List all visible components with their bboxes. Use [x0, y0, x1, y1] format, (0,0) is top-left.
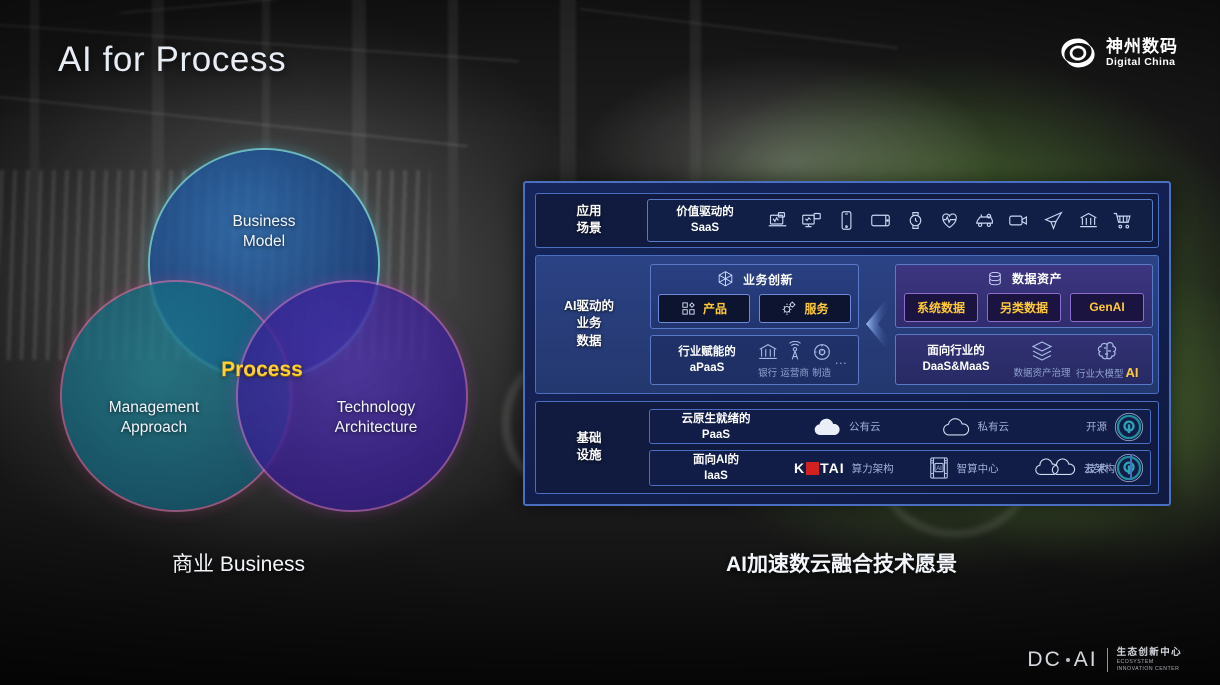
paas-item-private-cloud-label: 私有云	[978, 419, 1010, 434]
panel-row-infrastructure: 基础 设施 云原生就绪的 PaaS 公有	[535, 401, 1159, 494]
chip-genai-label: GenAI	[1089, 300, 1124, 314]
multi-cloud-icon	[1033, 457, 1077, 479]
airplane-icon	[1043, 210, 1064, 231]
gears-icon	[781, 300, 797, 316]
footer-divider	[1107, 648, 1108, 672]
tablet-icon	[870, 210, 891, 231]
iaas-tag-line1: 面向AI的	[693, 454, 739, 466]
factory-gear-icon	[811, 341, 833, 363]
chip-service-label: 服务	[804, 300, 828, 317]
row-label-line1: 基础	[576, 431, 601, 445]
chip-alternative-data[interactable]: 另类数据	[987, 293, 1061, 322]
brand-logo-text: 神州数码 Digital China	[1106, 38, 1178, 69]
chip-product-label: 产品	[703, 300, 727, 317]
data-asset-title: 数据资产	[1012, 270, 1062, 287]
kutai-logo: KTAI	[794, 460, 845, 476]
daas-maas-tag: 面向行业的 DaaS&MaaS	[904, 343, 1008, 375]
paas-badge: 开源	[1086, 412, 1144, 442]
brand-logo: 神州数码 Digital China	[1059, 36, 1178, 70]
openatom-circle-icon	[1114, 453, 1144, 483]
caption-ai-vision: AI加速数云融合技术愿景	[726, 548, 957, 578]
iaas-item-kutai-label: 算力架构	[852, 461, 894, 476]
svg-text:AI: AI	[936, 466, 942, 472]
paas-item-private-cloud: 私有云	[941, 417, 1010, 437]
paas-item-public-cloud-label: 公有云	[849, 419, 881, 434]
data-asset-column: 数据资产 系统数据 另类数据 GenAI	[890, 259, 1158, 390]
slide-canvas: AI for Process 神州数码 Digital China Busine…	[0, 0, 1220, 685]
business-innovation-column: 业务创新 产品	[645, 259, 864, 390]
smartphone-icon	[836, 210, 857, 231]
saas-subbox: 价值驱动的 SaaS	[647, 199, 1153, 242]
desktop-monitor-icon	[801, 210, 822, 231]
footer-text: 生态创新中心 ECOSYSTEM INNOVATION CENTER	[1117, 648, 1182, 673]
digital-china-swirl-icon	[1059, 36, 1097, 70]
brand-name-cn: 神州数码	[1106, 38, 1178, 56]
ai-columns: 业务创新 产品	[645, 259, 1158, 390]
apaas-cell: 行业赋能的 aPaaS 银行 运营商	[650, 335, 859, 385]
apaas-tag-line1: 行业赋能的	[678, 346, 736, 358]
data-asset-cell: 数据资产 系统数据 另类数据 GenAI	[895, 264, 1153, 328]
chip-genai[interactable]: GenAI	[1070, 293, 1144, 322]
car-icon	[974, 210, 995, 231]
kutai-post: TAI	[820, 460, 845, 476]
apaas-tag: 行业赋能的 aPaaS	[659, 344, 755, 376]
data-asset-header: 数据资产	[986, 270, 1062, 288]
footer-en2: INNOVATION CENTER	[1117, 667, 1182, 673]
iaas-item-kutai: KTAI 算力架构	[794, 460, 894, 476]
daas-item-data-governance: 数据资产治理	[1013, 339, 1070, 379]
paas-tag-line1: 云原生就绪的	[682, 413, 751, 425]
row-label-line1: AI驱动的	[564, 299, 614, 313]
footer-ai: AI	[1074, 648, 1098, 672]
industry-item-bank: 银行	[757, 341, 779, 379]
row-label-ai-driven-business-data: AI驱动的 业务 数据	[536, 256, 642, 393]
saas-tag: 价值驱动的 SaaS	[662, 204, 748, 236]
cloud-filled-icon	[812, 417, 842, 437]
business-innovation-chips: 产品 服务	[658, 294, 851, 323]
page-title: AI for Process	[58, 40, 286, 80]
industry-item-operator: 运营商	[780, 341, 809, 379]
row-label-line2: 场景	[576, 221, 601, 235]
panel-row-ai-driven-business-data: AI驱动的 业务 数据	[535, 255, 1159, 394]
iaas-tag: 面向AI的 IaaS	[660, 452, 772, 484]
openatom-circle-icon	[1114, 412, 1144, 442]
business-innovation-title: 业务创新	[743, 271, 793, 288]
iaas-badge: 技术	[1086, 453, 1144, 483]
row-body-application-scenarios: 价值驱动的 SaaS	[642, 194, 1158, 247]
blocks-icon	[681, 301, 696, 316]
infra-row-paas: 云原生就绪的 PaaS 公有云 私有云	[649, 409, 1151, 445]
footer-dc-ai: DC AI	[1027, 648, 1097, 672]
brand-name-en: Digital China	[1106, 57, 1178, 68]
venn-diagram: Business Model Management Approach Techn…	[62, 150, 462, 510]
row-label-infrastructure: 基础 设施	[536, 402, 642, 493]
laptop-icon	[767, 210, 788, 231]
cube-network-icon	[716, 270, 735, 289]
iaas-item-ai-computing-center-label: 智算中心	[957, 461, 999, 476]
footer-dot	[1066, 658, 1070, 662]
kutai-pre: K	[794, 460, 805, 476]
database-icon	[986, 270, 1004, 288]
brain-chip-icon	[1095, 339, 1119, 363]
row-label-line3: 数据	[576, 334, 601, 348]
business-innovation-cell: 业务创新 产品	[650, 264, 859, 329]
industry-item-operator-label: 运营商	[780, 365, 809, 379]
footer-cn: 生态创新中心	[1117, 648, 1182, 659]
caption-business: 商业 Business	[172, 548, 305, 578]
iaas-badge-label: 技术	[1086, 461, 1107, 476]
iaas-item-ai-computing-center: AI 智算中心	[928, 455, 999, 481]
paas-items: 公有云 私有云	[772, 417, 1140, 437]
kutai-block	[806, 462, 819, 475]
row-label-line2: 设施	[576, 448, 601, 462]
iaas-tag-line2: IaaS	[704, 470, 728, 482]
column-separator	[864, 259, 890, 390]
paas-tag: 云原生就绪的 PaaS	[660, 411, 772, 443]
chip-system-data[interactable]: 系统数据	[904, 293, 978, 322]
daas-item-data-governance-label: 数据资产治理	[1013, 365, 1070, 379]
video-camera-icon	[1008, 210, 1029, 231]
daas-item-industry-llm: 行业大模型AI	[1076, 339, 1139, 380]
data-layers-icon	[1030, 339, 1054, 363]
ai-server-icon: AI	[928, 455, 950, 481]
data-asset-chips: 系统数据 另类数据 GenAI	[903, 293, 1145, 322]
antenna-icon	[784, 341, 806, 363]
bank-icon	[757, 341, 779, 363]
heart-pulse-icon	[939, 210, 960, 231]
chip-system-data-label: 系统数据	[917, 299, 965, 316]
bank-icon	[1078, 210, 1099, 231]
scenario-icon-strip	[762, 210, 1138, 231]
row-label-application-scenarios: 应用 场景	[536, 194, 642, 247]
architecture-panel: 应用 场景 价值驱动的 SaaS	[523, 181, 1171, 506]
apaas-tag-line2: aPaaS	[690, 362, 725, 374]
daas-maas-items: 数据资产治理 行业大模型AI	[1008, 339, 1144, 380]
daas-item-industry-llm-label: 行业大模型AI	[1076, 365, 1139, 380]
cloud-outline-icon	[941, 417, 971, 437]
row-label-line1: 应用	[576, 204, 601, 218]
badge-connector-line	[1130, 454, 1132, 480]
venn-circle-technology-architecture	[238, 282, 466, 510]
row-body-ai-driven-business-data: 业务创新 产品	[642, 256, 1161, 393]
industry-llm-ai-suffix: AI	[1126, 365, 1139, 380]
daas-maas-tag-line1: 面向行业的	[927, 345, 985, 357]
paas-item-public-cloud: 公有云	[812, 417, 881, 437]
row-label-line2: 业务	[576, 316, 601, 330]
chip-service[interactable]: 服务	[759, 294, 851, 323]
footer-dc: DC	[1027, 648, 1061, 672]
business-innovation-header: 业务创新	[716, 270, 793, 289]
infra-row-iaas: 面向AI的 IaaS KTAI 算力架构	[649, 450, 1151, 486]
shopping-cart-icon	[1112, 210, 1133, 231]
chevron-left-icon	[864, 295, 890, 353]
apaas-more-ellipsis: …	[834, 352, 848, 367]
footer-logo: DC AI 生态创新中心 ECOSYSTEM INNOVATION CENTER	[1027, 648, 1182, 673]
apaas-industry-items: 银行 运营商 制造 …	[755, 341, 850, 379]
saas-tag-line2: SaaS	[691, 222, 719, 234]
paas-badge-label: 开源	[1086, 419, 1107, 434]
footer-en1: ECOSYSTEM	[1117, 660, 1182, 666]
industry-item-manufacturing-label: 制造	[812, 365, 831, 379]
chip-product[interactable]: 产品	[658, 294, 750, 323]
daas-maas-cell: 面向行业的 DaaS&MaaS 数据资产治理	[895, 334, 1153, 385]
venn-label-process: Process	[190, 358, 334, 382]
daas-maas-tag-line2: DaaS&MaaS	[922, 361, 989, 373]
saas-tag-line1: 价值驱动的	[676, 206, 734, 218]
industry-item-bank-label: 银行	[758, 365, 777, 379]
iaas-items: KTAI 算力架构 AI	[772, 455, 1140, 481]
industry-llm-text: 行业大模型	[1076, 366, 1124, 380]
chip-alternative-data-label: 另类数据	[1000, 299, 1048, 316]
panel-row-application-scenarios: 应用 场景 价值驱动的 SaaS	[535, 193, 1159, 248]
smartwatch-icon	[905, 210, 926, 231]
infrastructure-rows: 云原生就绪的 PaaS 公有云 私有云	[645, 405, 1155, 490]
industry-item-manufacturing: 制造	[811, 341, 833, 379]
row-body-infrastructure: 云原生就绪的 PaaS 公有云 私有云	[642, 402, 1158, 493]
paas-tag-line2: PaaS	[702, 429, 730, 441]
